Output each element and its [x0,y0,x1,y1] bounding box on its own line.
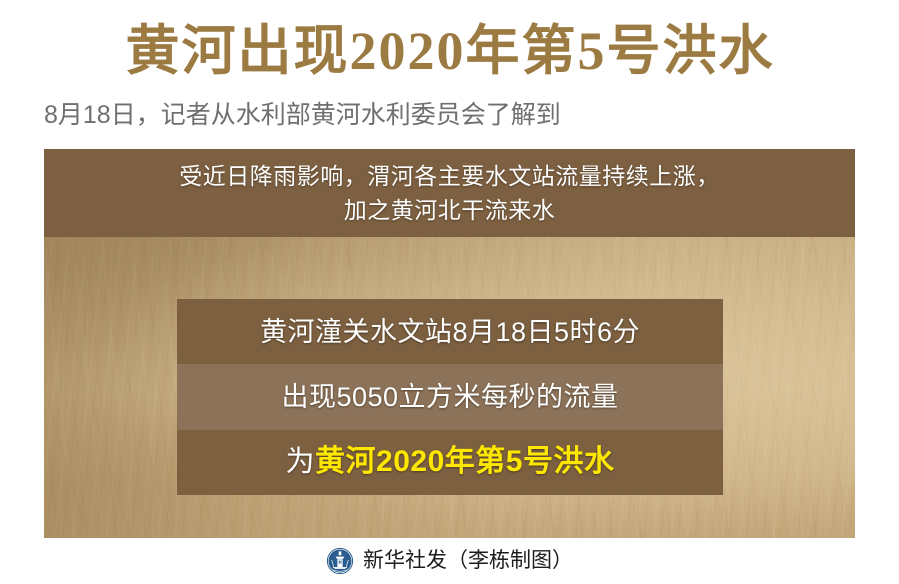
credit-text: 新华社发（李栋制图） [363,547,573,575]
infographic-poster: 黄河出现2020年第5号洪水 8月18日，记者从水利部黄河水利委员会了解到 受近… [0,0,899,584]
lead-banner-text: 受近日降雨影响，渭河各主要水文站流量持续上涨， 加之黄河北干流来水 [155,159,744,227]
fact-stack: 黄河潼关水文站8月18日5时6分 出现5050立方米每秒的流量 为黄河2020年… [177,299,723,495]
fact-row-3-text: 为黄河2020年第5号洪水 [286,446,615,478]
fact-row-3-highlight: 黄河2020年第5号洪水 [315,445,614,478]
header-block: 黄河出现2020年第5号洪水 8月18日，记者从水利部黄河水利委员会了解到 [0,0,899,149]
lead-banner-line-2: 加之黄河北干流来水 [179,193,720,227]
fact-row-2-text: 出现5050立方米每秒的流量 [281,381,618,413]
lead-banner-line-1: 受近日降雨影响，渭河各主要水文站流量持续上涨， [179,159,720,193]
page-title: 黄河出现2020年第5号洪水 [44,16,856,86]
page-subtitle: 8月18日，记者从水利部黄河水利委员会了解到 [44,98,856,132]
fact-row-station-time: 黄河潼关水文站8月18日5时6分 [177,299,723,364]
fact-row-3-prefix: 为 [286,446,316,478]
fact-row-flood-designation: 为黄河2020年第5号洪水 [177,430,723,495]
fact-row-1-text: 黄河潼关水文站8月18日5时6分 [260,316,640,348]
fact-row-discharge: 出现5050立方米每秒的流量 [177,364,723,429]
lead-banner: 受近日降雨影响，渭河各主要水文站流量持续上涨， 加之黄河北干流来水 [44,149,855,237]
xinhua-agency-logo-icon [326,547,354,575]
footer-credit-bar: 新华社发（李栋制图） [0,538,899,584]
river-photo-background: 受近日降雨影响，渭河各主要水文站流量持续上涨， 加之黄河北干流来水 黄河潼关水文… [44,149,855,538]
